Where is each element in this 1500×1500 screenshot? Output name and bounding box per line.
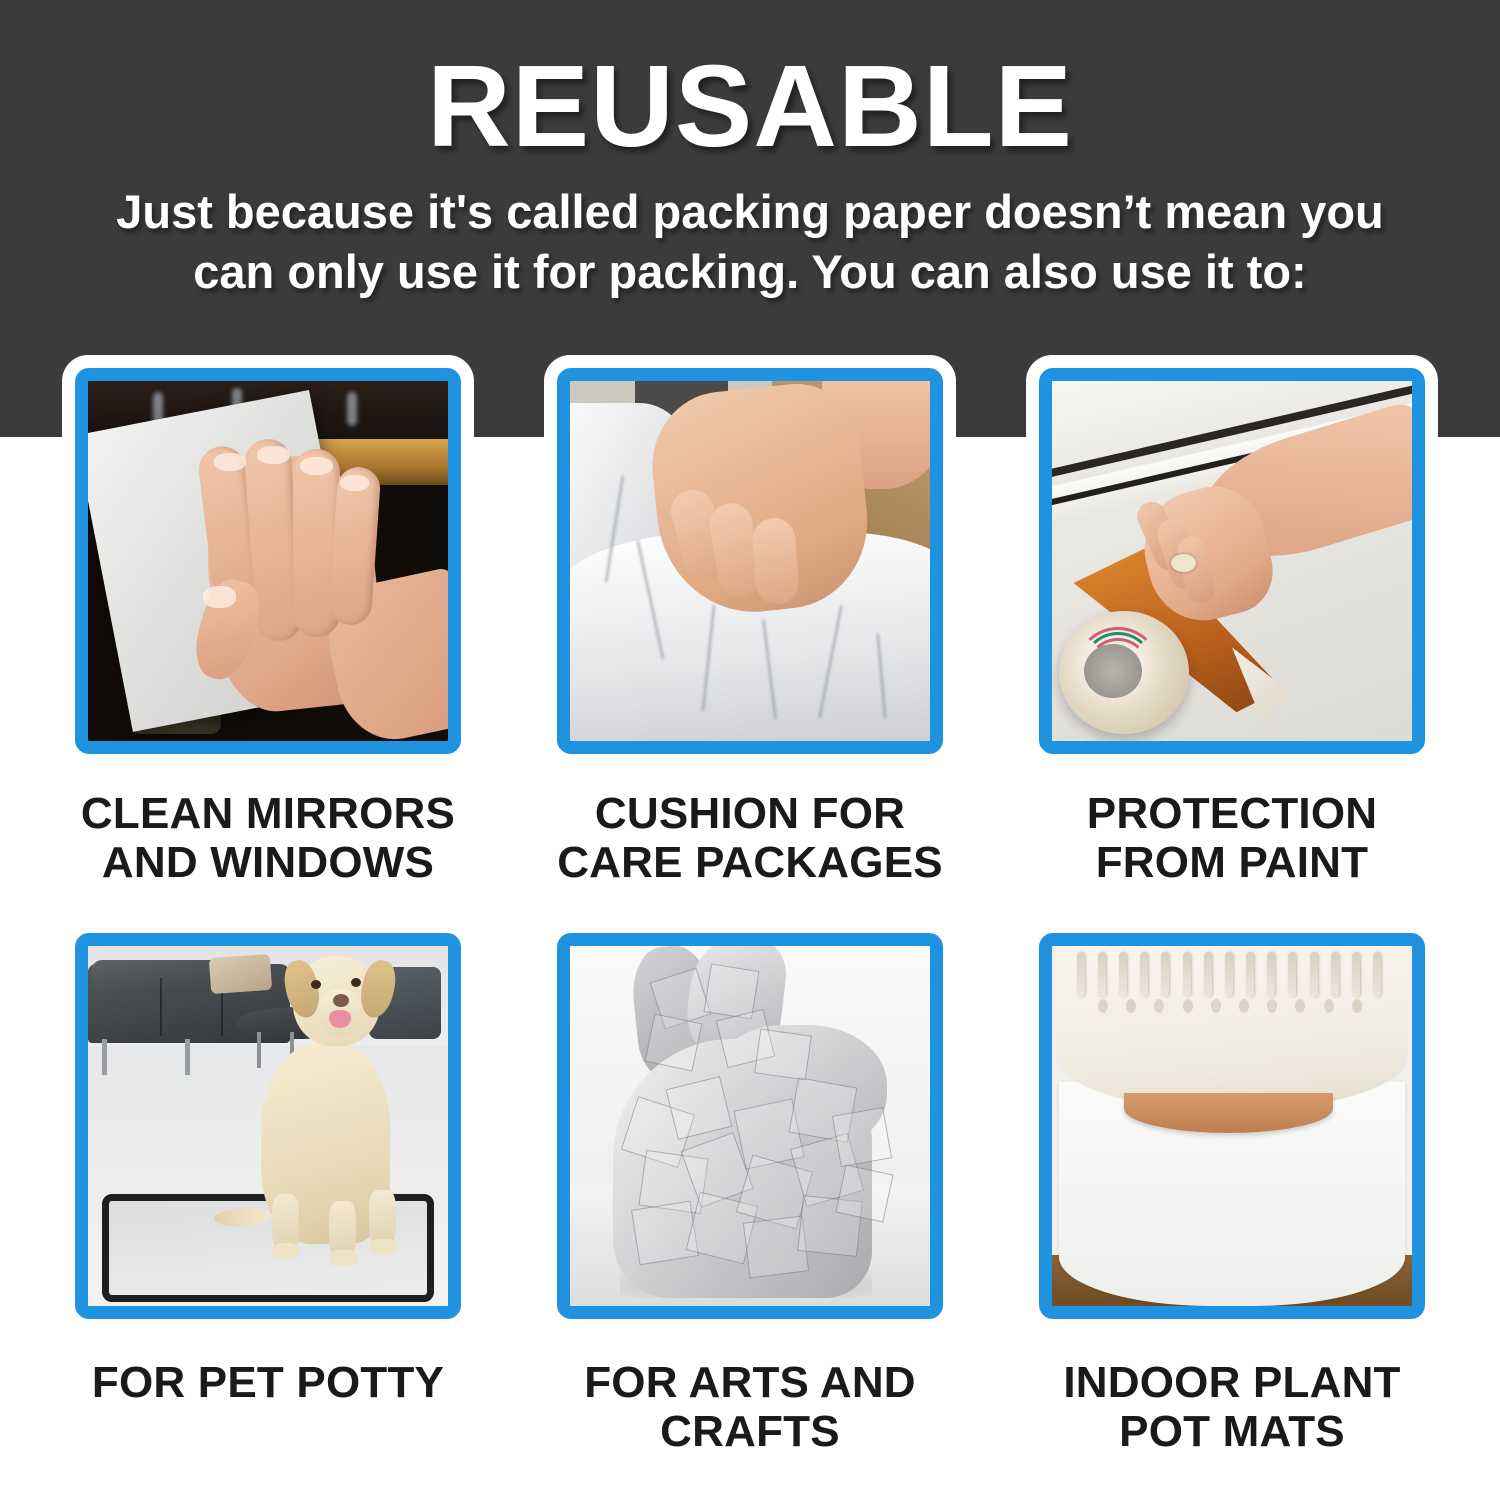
dog-paw (329, 1250, 358, 1266)
planter-rib (1183, 952, 1191, 997)
card-border-arts-crafts (557, 933, 943, 1319)
card-border-cushion (557, 368, 943, 754)
planter-dot (1211, 999, 1221, 1013)
planter-dot (1352, 999, 1362, 1013)
page-title: REUSABLE (0, 48, 1500, 164)
benefits-row-top: CLEAN MIRRORS AND WINDOWS (0, 355, 1500, 888)
planter-dot (1154, 999, 1164, 1013)
dog-nose (333, 994, 349, 1007)
photo-clean-mirrors (88, 381, 448, 741)
benefit-caption-pot-mats: INDOOR PLANT POT MATS (1063, 1358, 1400, 1457)
card-border-pot-mats (1039, 933, 1425, 1319)
hand-finger (751, 516, 800, 605)
planter-rib (1161, 952, 1169, 997)
benefit-cell-paint: PROTECTION FROM PAINT (1026, 355, 1438, 888)
photo-plant-pot-mats (1052, 946, 1412, 1306)
planter-dot (1098, 999, 1108, 1013)
planter-dot (1126, 999, 1136, 1013)
throw-pillow (209, 954, 273, 994)
planter-rib (1267, 952, 1275, 997)
paper-facet (645, 1013, 703, 1071)
benefit-caption-cushion: CUSHION FOR CARE PACKAGES (557, 789, 943, 888)
planter-rib (1331, 952, 1339, 997)
tape-roll-core (1084, 644, 1142, 698)
planter-dot (1295, 999, 1305, 1013)
benefit-cell-clean-mirrors: CLEAN MIRRORS AND WINDOWS (62, 355, 474, 888)
planter-rib (1373, 952, 1381, 997)
fingernail (214, 453, 246, 471)
card-border-paint (1039, 368, 1425, 754)
benefits-grid: CLEAN MIRRORS AND WINDOWS (0, 355, 1500, 1456)
paper-facet (832, 1107, 893, 1168)
card-frame-pot-mats[interactable] (1026, 920, 1438, 1332)
benefit-caption-arts-crafts: FOR ARTS AND CRAFTS (584, 1358, 916, 1457)
card-border-pet-potty (75, 933, 461, 1319)
planter-rib (1204, 952, 1212, 997)
planter-rib (1288, 952, 1296, 997)
card-frame-cushion[interactable] (544, 355, 956, 767)
planter-rib (1352, 952, 1360, 997)
benefit-cell-arts-crafts: FOR ARTS AND CRAFTS (544, 920, 956, 1457)
sofa-seam (160, 978, 162, 1036)
sofa-leg (185, 1039, 190, 1075)
planter-rib (1246, 952, 1254, 997)
photo-cushion-care-packages (570, 381, 930, 741)
planter-rib (1140, 952, 1148, 997)
card-frame-pet-potty[interactable] (62, 920, 474, 1332)
dog-eye (351, 978, 361, 987)
card-frame-clean-mirrors[interactable] (62, 355, 474, 767)
planter-rib (1225, 952, 1233, 997)
dog-paw (369, 1239, 398, 1255)
fingernail (300, 457, 332, 475)
finger-ring (1171, 554, 1196, 572)
benefit-caption-paint: PROTECTION FROM PAINT (1087, 789, 1377, 888)
dog-paw (272, 1243, 301, 1259)
planter-dot (1239, 999, 1249, 1013)
ceramic-planter (1056, 946, 1409, 1112)
fingernail (340, 475, 369, 491)
card-border-clean-mirrors (75, 368, 461, 754)
paper-facet (631, 1200, 699, 1265)
fingernail (257, 446, 289, 464)
benefit-cell-cushion: CUSHION FOR CARE PACKAGES (544, 355, 956, 888)
mirror-glint-icon (347, 392, 357, 426)
benefit-caption-clean-mirrors: CLEAN MIRRORS AND WINDOWS (81, 789, 455, 888)
paper-facet (835, 1164, 893, 1222)
card-frame-arts-crafts[interactable] (544, 920, 956, 1332)
benefit-caption-pet-potty: FOR PET POTTY (92, 1358, 444, 1407)
page-subtitle: Just because it's called packing paper d… (90, 182, 1410, 302)
table-leg (257, 1032, 261, 1068)
planter-rib (1098, 952, 1106, 997)
planter-rib (1077, 952, 1085, 997)
planter-dot (1324, 999, 1334, 1013)
photo-pet-potty (88, 946, 448, 1306)
benefit-cell-pot-mats: INDOOR PLANT POT MATS (1026, 920, 1438, 1457)
photo-protection-from-paint (1052, 381, 1412, 741)
benefits-row-bottom: FOR PET POTTY (0, 920, 1500, 1457)
planter-dot (1267, 999, 1277, 1013)
paper-facet (754, 1028, 812, 1080)
planter-rib (1310, 952, 1318, 997)
fingernail (203, 586, 235, 608)
sofa-leg (102, 1039, 107, 1075)
benefit-cell-pet-potty: FOR PET POTTY (62, 920, 474, 1457)
photo-arts-and-crafts (570, 946, 930, 1306)
planter-dot (1183, 999, 1193, 1013)
card-frame-paint[interactable] (1026, 355, 1438, 767)
planter-rib (1119, 952, 1127, 997)
infographic-poster: REUSABLE Just because it's called packin… (0, 0, 1500, 1500)
